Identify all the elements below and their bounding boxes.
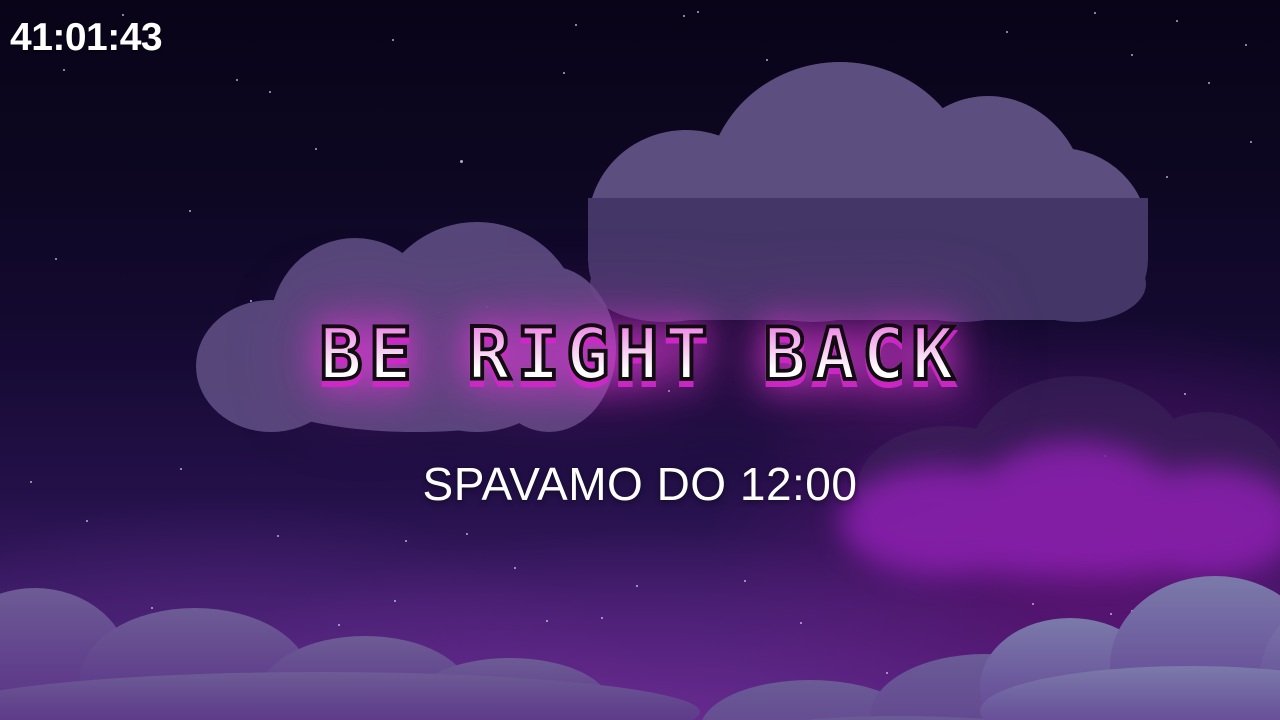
star-icon bbox=[1208, 82, 1210, 84]
star-icon bbox=[1166, 176, 1168, 178]
star-icon bbox=[269, 91, 271, 93]
star-icon bbox=[563, 72, 565, 74]
brb-overlay-screen: 41:01:43 BE RIGHT BACK SPAVAMO DO 12:00 bbox=[0, 0, 1280, 720]
cloud-bottom-left bbox=[0, 552, 700, 720]
star-icon bbox=[55, 258, 57, 260]
star-icon bbox=[466, 533, 468, 535]
cloud-top-large bbox=[588, 8, 1148, 320]
star-icon bbox=[315, 148, 317, 150]
star-icon bbox=[460, 160, 463, 163]
star-icon bbox=[63, 69, 65, 71]
star-icon bbox=[1250, 141, 1252, 143]
title-container: BE RIGHT BACK bbox=[0, 314, 1280, 394]
star-icon bbox=[575, 24, 577, 26]
subtitle-message: SPAVAMO DO 12:00 bbox=[0, 457, 1280, 511]
star-icon bbox=[1245, 44, 1247, 46]
star-icon bbox=[405, 540, 407, 542]
star-icon bbox=[236, 79, 238, 81]
stream-timer: 41:01:43 bbox=[10, 16, 162, 60]
star-icon bbox=[189, 210, 191, 212]
cloud-bottom-right bbox=[980, 556, 1280, 720]
page-title: BE RIGHT BACK bbox=[319, 314, 961, 394]
star-icon bbox=[277, 535, 279, 537]
star-icon bbox=[392, 39, 394, 41]
star-icon bbox=[744, 580, 746, 582]
star-icon bbox=[1176, 20, 1178, 22]
star-icon bbox=[86, 520, 88, 522]
